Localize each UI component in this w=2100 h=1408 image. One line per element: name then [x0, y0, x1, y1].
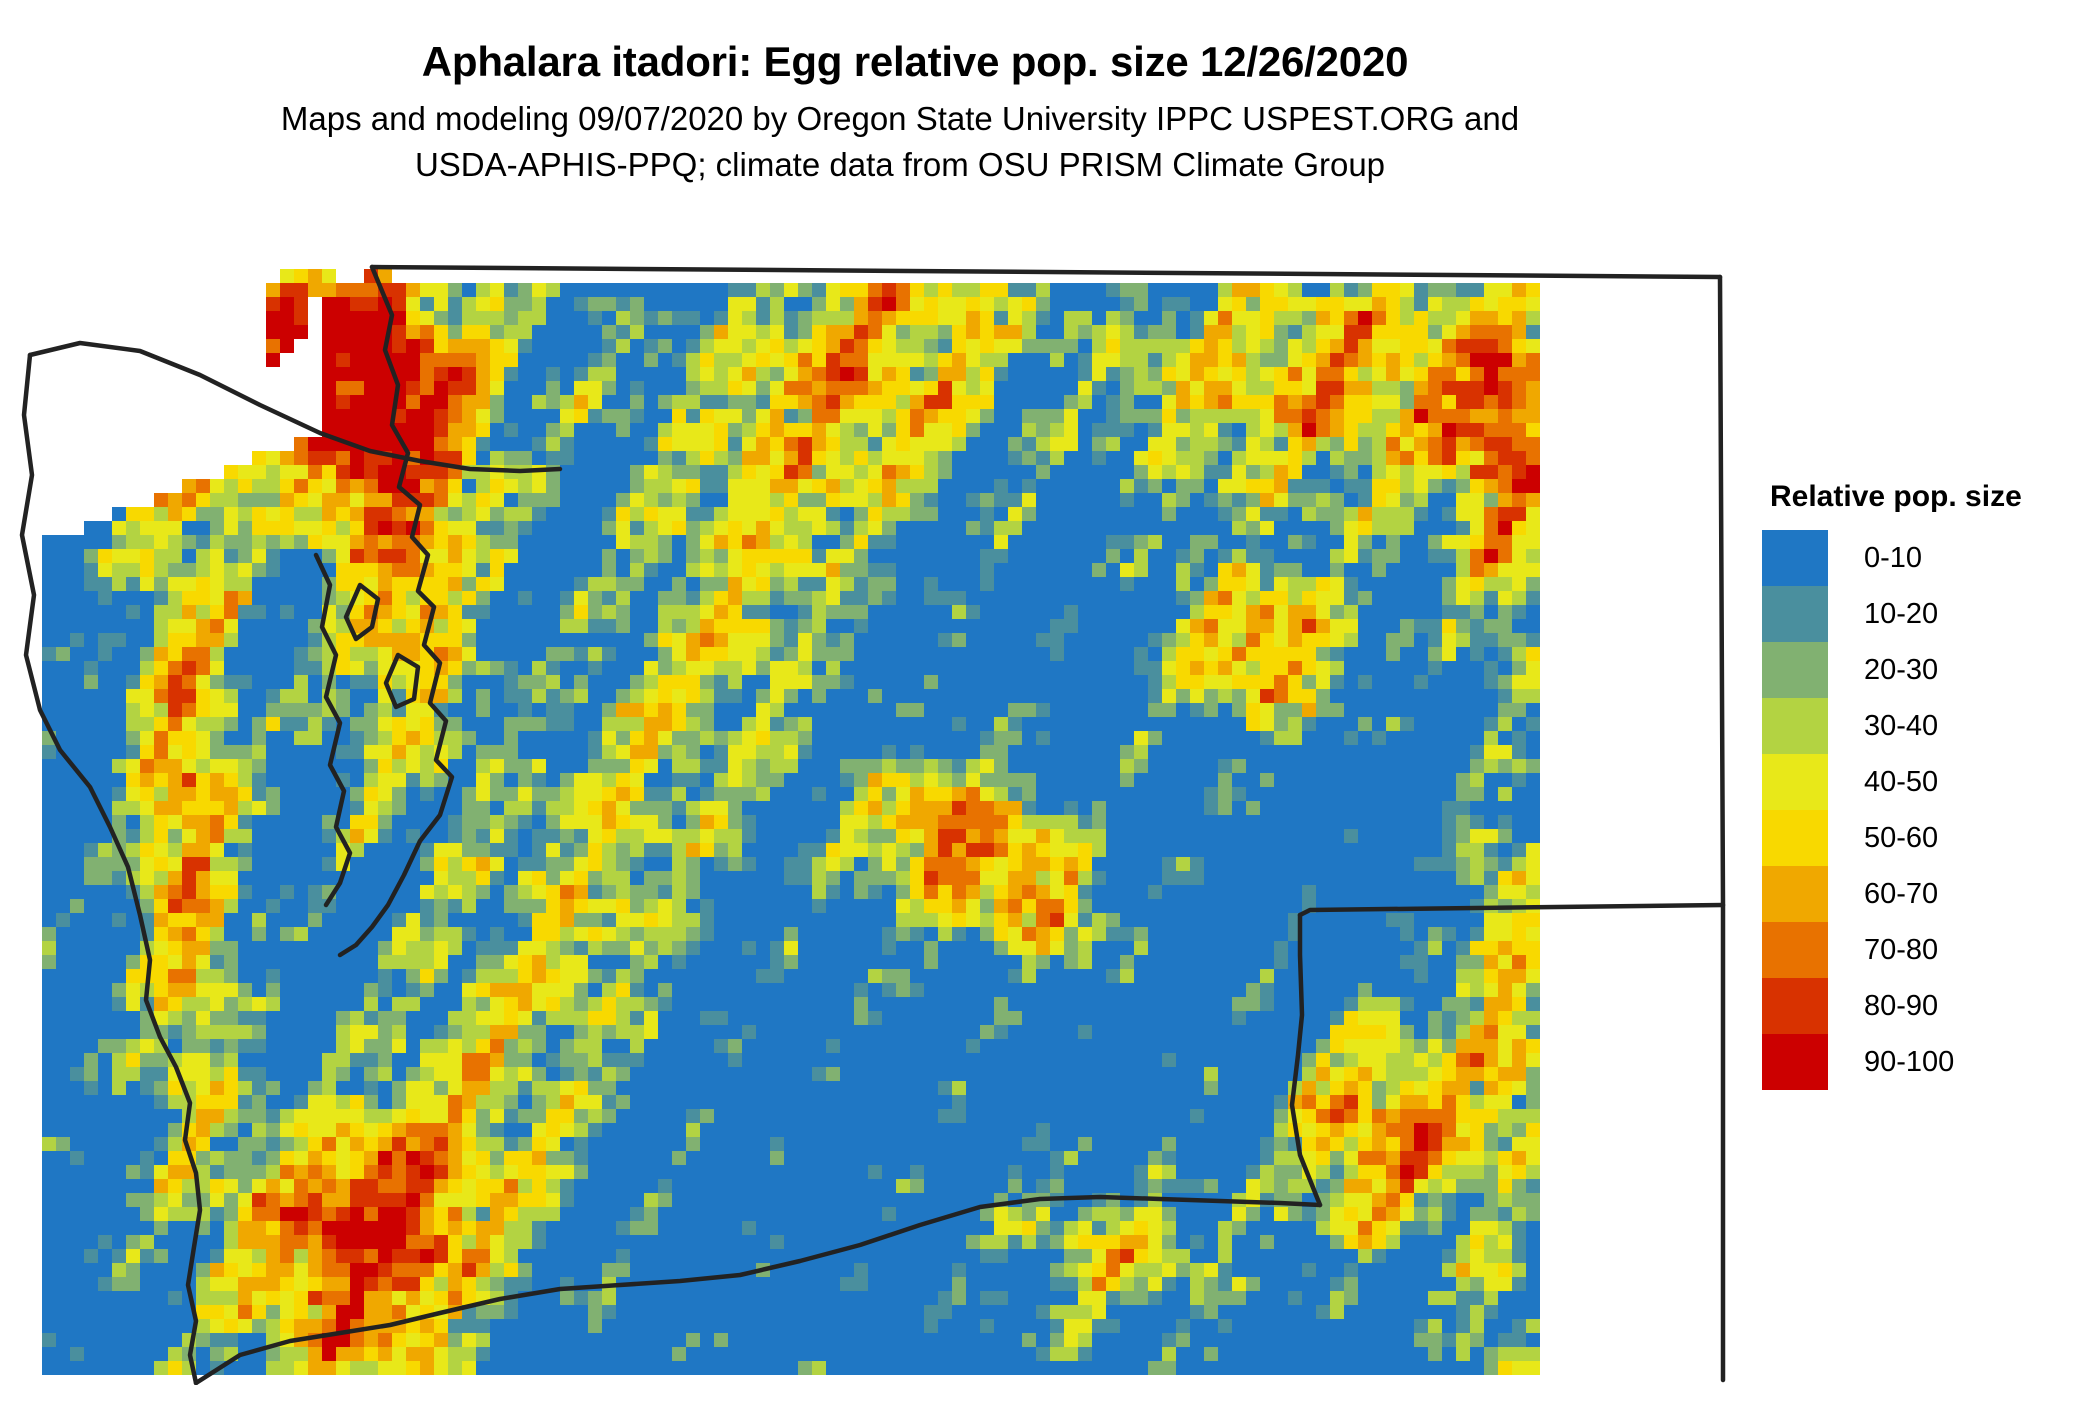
legend-swatch — [1762, 922, 1828, 978]
legend-label: 20-30 — [1864, 654, 1938, 687]
legend-label: 80-90 — [1864, 990, 1938, 1023]
legend-label: 60-70 — [1864, 878, 1938, 911]
legend-row[interactable]: 90-100 — [1762, 1034, 2092, 1090]
legend-title: Relative pop. size — [1770, 480, 2092, 514]
legend-row[interactable]: 40-50 — [1762, 754, 2092, 810]
legend-row[interactable]: 10-20 — [1762, 586, 2092, 642]
legend-label: 90-100 — [1864, 1046, 1954, 1079]
legend: Relative pop. size 0-1010-2020-3030-4040… — [1762, 480, 2092, 1090]
legend-label: 10-20 — [1864, 598, 1938, 631]
legend-row[interactable]: 80-90 — [1762, 978, 2092, 1034]
legend-swatch — [1762, 978, 1828, 1034]
subtitle-line-2: USDA-APHIS-PPQ; climate data from OSU PR… — [0, 142, 1800, 188]
legend-swatch — [1762, 642, 1828, 698]
legend-swatch — [1762, 698, 1828, 754]
legend-label: 0-10 — [1864, 542, 1922, 575]
legend-row[interactable]: 50-60 — [1762, 810, 2092, 866]
figure-subtitle: Maps and modeling 09/07/2020 by Oregon S… — [0, 96, 1800, 188]
legend-label: 50-60 — [1864, 822, 1938, 855]
legend-swatch — [1762, 754, 1828, 810]
legend-items: 0-1010-2020-3030-4040-5050-6060-7070-808… — [1762, 530, 2092, 1090]
map-figure: Aphalara itadori: Egg relative pop. size… — [0, 0, 2100, 1408]
legend-label: 30-40 — [1864, 710, 1938, 743]
legend-row[interactable]: 70-80 — [1762, 922, 2092, 978]
legend-swatch — [1762, 586, 1828, 642]
subtitle-line-1: Maps and modeling 09/07/2020 by Oregon S… — [0, 96, 1800, 142]
legend-swatch — [1762, 866, 1828, 922]
legend-label: 70-80 — [1864, 934, 1938, 967]
legend-row[interactable]: 0-10 — [1762, 530, 2092, 586]
legend-swatch — [1762, 530, 1828, 586]
raster-heatmap — [0, 255, 1760, 1385]
legend-swatch — [1762, 810, 1828, 866]
legend-label: 40-50 — [1864, 766, 1938, 799]
map-panel — [0, 255, 1760, 1385]
legend-row[interactable]: 20-30 — [1762, 642, 2092, 698]
page-title: Aphalara itadori: Egg relative pop. size… — [0, 38, 1830, 86]
legend-row[interactable]: 60-70 — [1762, 866, 2092, 922]
legend-swatch — [1762, 1034, 1828, 1090]
legend-row[interactable]: 30-40 — [1762, 698, 2092, 754]
